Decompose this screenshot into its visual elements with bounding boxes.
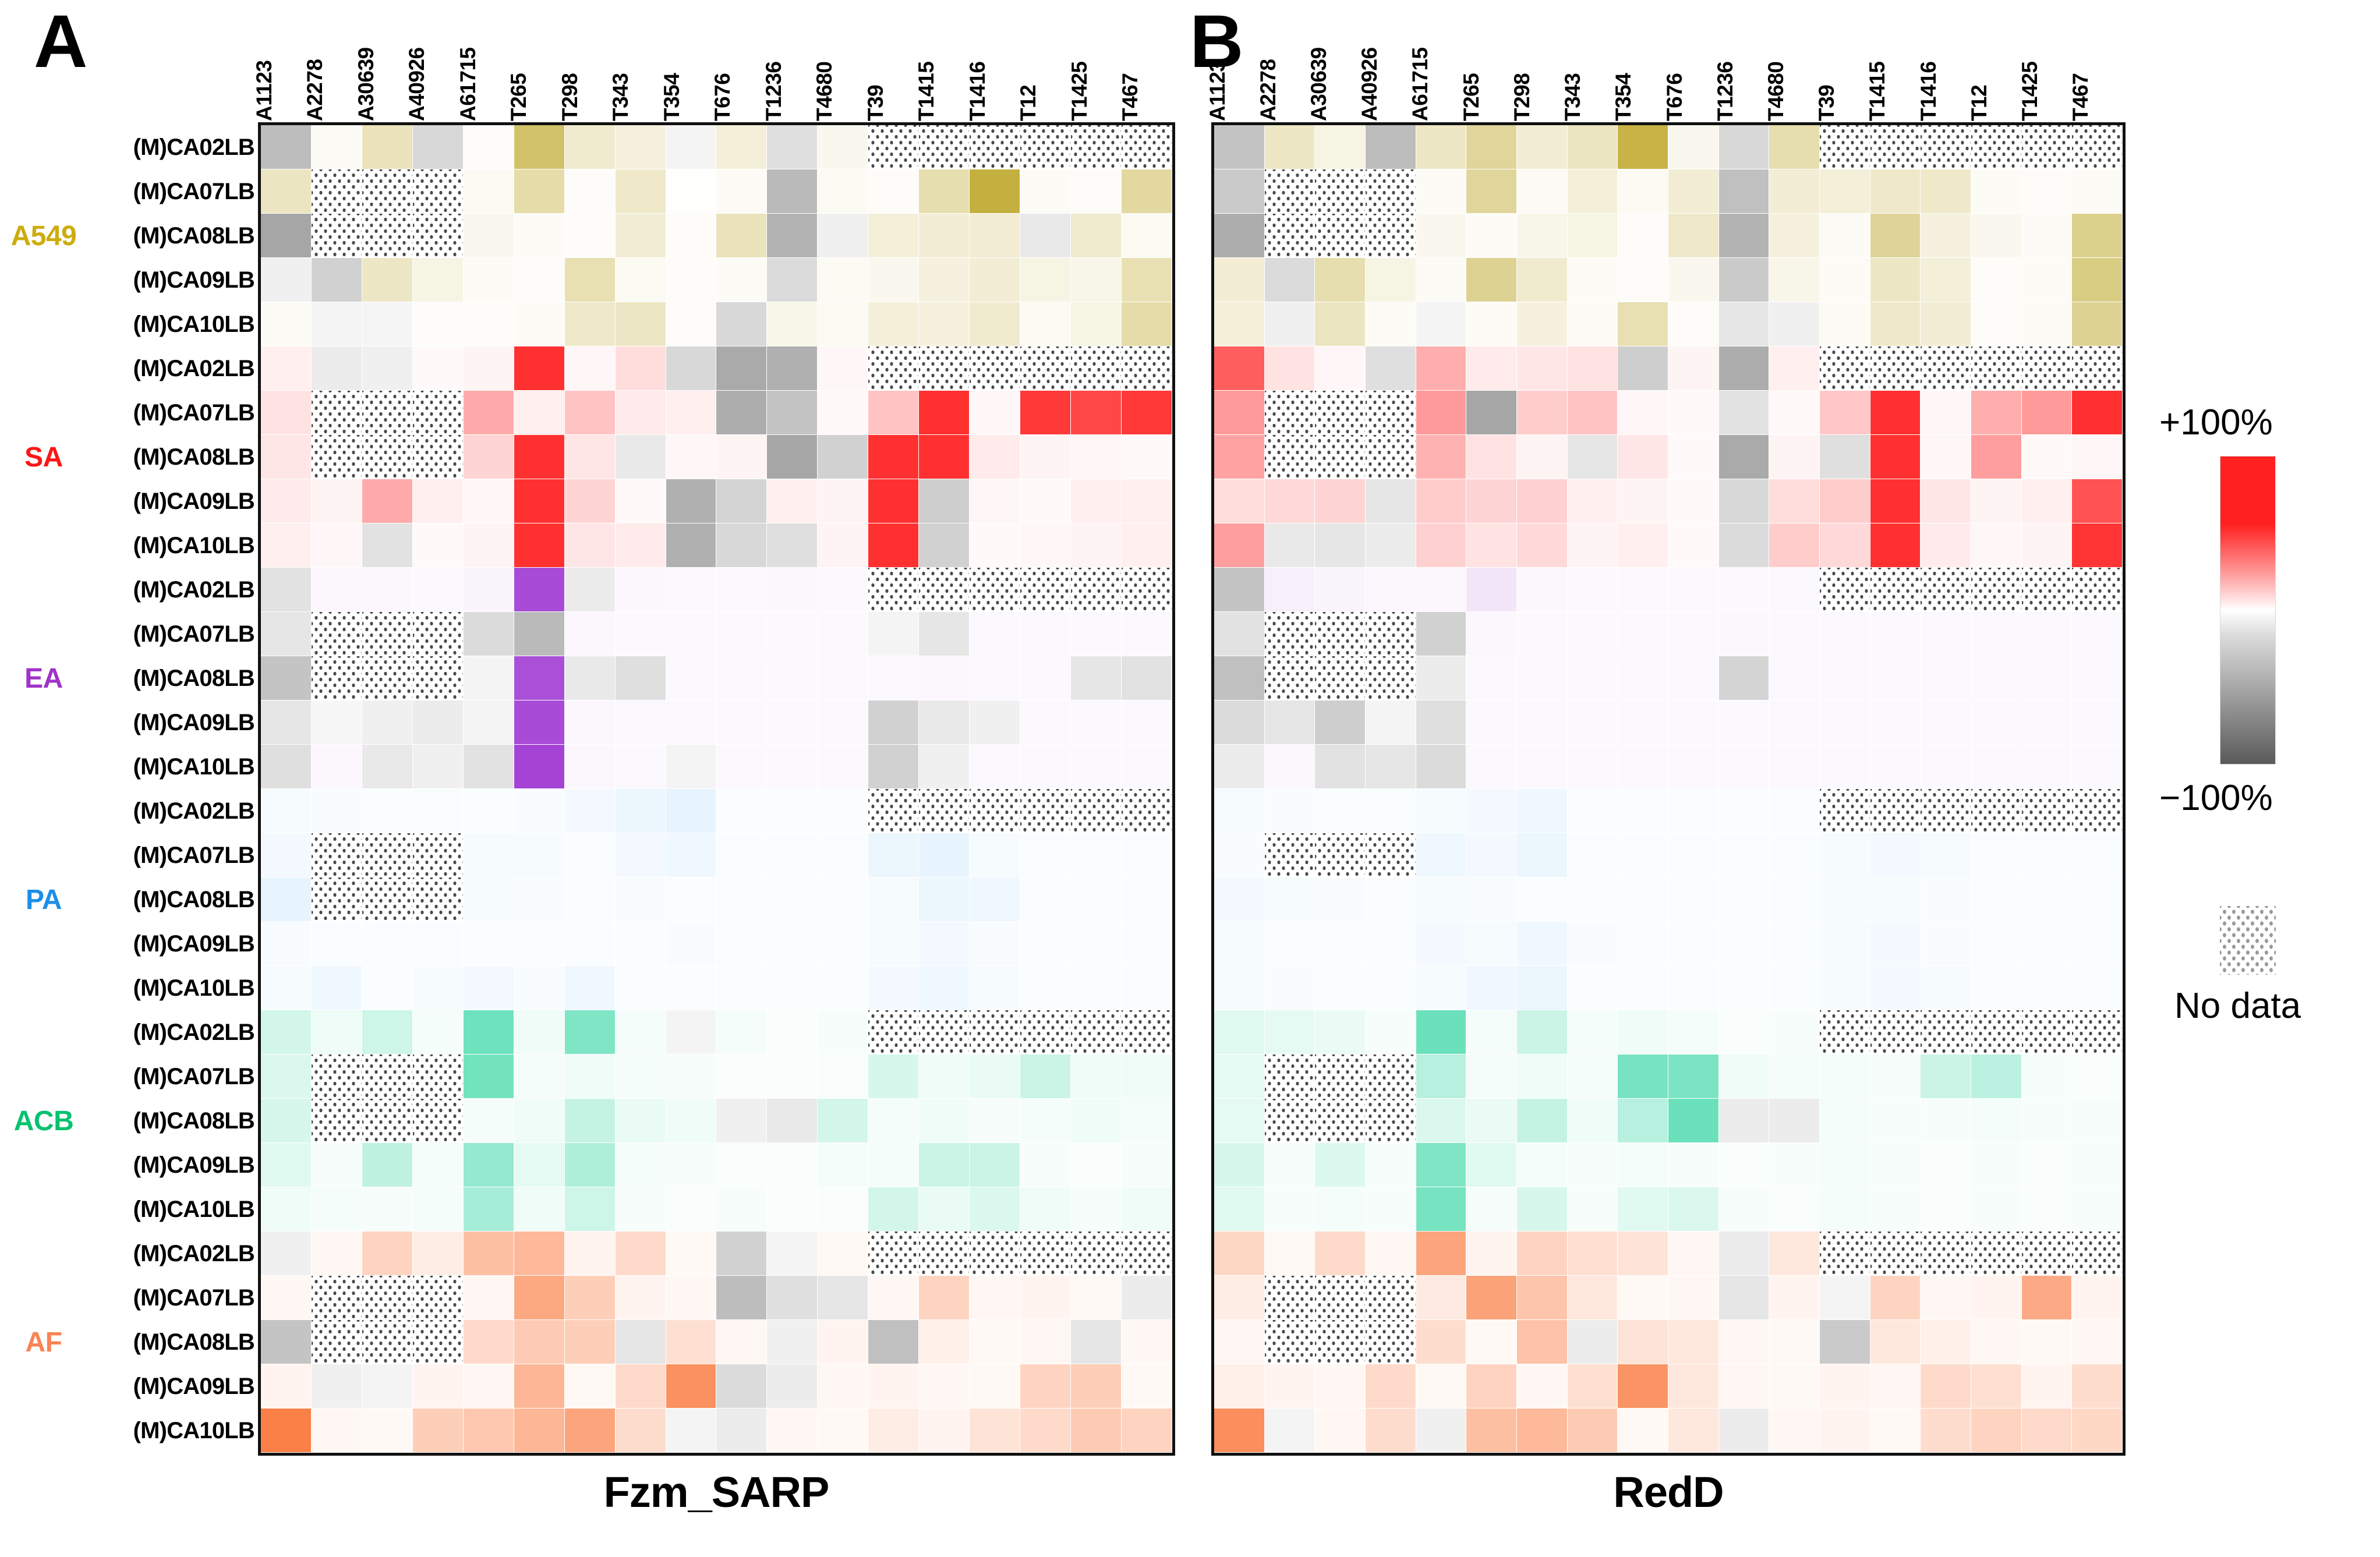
- heatmap-cell: [818, 745, 868, 789]
- heatmap-cell: [1071, 258, 1122, 302]
- heatmap-cell: [1517, 1276, 1568, 1320]
- heatmap-cell: [1568, 966, 1618, 1010]
- column-header-t467: T467: [2075, 0, 2126, 122]
- heatmap-cell: [1668, 1276, 1719, 1320]
- heatmap-cell: [666, 1232, 717, 1276]
- heatmap-cell: [1416, 877, 1467, 922]
- heatmap-cell: [970, 1010, 1020, 1054]
- heatmap-cell: [1971, 1099, 2022, 1143]
- heatmap-cell: [1265, 391, 1315, 435]
- column-header-label: T1425: [2018, 62, 2042, 121]
- heatmap-cell: [1820, 1276, 1870, 1320]
- heatmap-cell: [1618, 789, 1668, 833]
- heatmap-cell: [767, 1099, 818, 1143]
- heatmap-cell: [767, 1320, 818, 1364]
- heatmap-cell: [1568, 656, 1618, 700]
- heatmap-cell: [1820, 1364, 1870, 1409]
- heatmap-cell: [1416, 966, 1467, 1010]
- heatmap-cell: [362, 612, 413, 656]
- heatmap-cell: [2072, 966, 2123, 1010]
- heatmap-cell: [666, 922, 717, 966]
- heatmap-cell: [362, 1320, 413, 1364]
- heatmap-cell: [1466, 1099, 1517, 1143]
- heatmap-cell: [1618, 1099, 1668, 1143]
- heatmap-cell: [767, 125, 818, 169]
- heatmap-cell: [413, 700, 464, 745]
- heatmap-cell: [1214, 346, 1265, 391]
- heatmap-cell: [1517, 169, 1568, 214]
- heatmap-cell: [1971, 391, 2022, 435]
- row-label: (M)CA08LB: [86, 656, 258, 700]
- heatmap-cell: [1517, 125, 1568, 169]
- heatmap-cell: [565, 745, 616, 789]
- heatmap-cell: [616, 789, 666, 833]
- column-header-label: A30639: [1307, 47, 1331, 121]
- heatmap-cell: [312, 1320, 362, 1364]
- column-header-a30639: A30639: [360, 0, 411, 122]
- heatmap-cell: [1122, 833, 1172, 877]
- heatmap-cell: [413, 391, 464, 435]
- column-header-label: T1236: [762, 62, 786, 121]
- heatmap-cell: [565, 568, 616, 612]
- heatmap-cell: [1214, 1232, 1265, 1276]
- heatmap-cell: [1971, 1054, 2022, 1099]
- heatmap-cell: [1466, 302, 1517, 346]
- heatmap-cell: [1071, 966, 1122, 1010]
- heatmap-cell: [1416, 125, 1467, 169]
- heatmap-cell: [767, 568, 818, 612]
- heatmap-cell: [1668, 391, 1719, 435]
- heatmap-cell: [2022, 302, 2073, 346]
- heatmap-cell: [1921, 612, 1971, 656]
- heatmap-cell: [616, 1054, 666, 1099]
- heatmap-cell: [1568, 125, 1618, 169]
- row-label: (M)CA10LB: [86, 966, 258, 1010]
- heatmap-cell: [868, 1232, 919, 1276]
- heatmap-cell: [1568, 1232, 1618, 1276]
- heatmap-cell: [919, 214, 970, 258]
- heatmap-cell: [970, 435, 1020, 479]
- heatmap-cell: [1466, 1010, 1517, 1054]
- heatmap-cell: [1071, 568, 1122, 612]
- heatmap-cell: [514, 302, 565, 346]
- heatmap-cell: [1214, 568, 1265, 612]
- heatmap-cell: [464, 391, 514, 435]
- heatmap-cell: [565, 612, 616, 656]
- heatmap-cell: [1668, 1054, 1719, 1099]
- heatmap-cell: [312, 789, 362, 833]
- heatmap-cell: [312, 745, 362, 789]
- heatmap-cell: [1921, 833, 1971, 877]
- heatmap-cell: [1921, 169, 1971, 214]
- row-label: (M)CA10LB: [86, 1409, 258, 1453]
- heatmap-cell: [1668, 1187, 1719, 1232]
- heatmap-cell: [1517, 1409, 1568, 1453]
- row-label: (M)CA10LB: [86, 302, 258, 346]
- column-header-label: T467: [2068, 73, 2093, 121]
- heatmap-cell: [1870, 214, 1921, 258]
- heatmap-cell: [818, 833, 868, 877]
- heatmap-cell: [1416, 1010, 1467, 1054]
- heatmap-cell: [1668, 1409, 1719, 1453]
- heatmap-cell: [919, 1320, 970, 1364]
- heatmap-cell: [1921, 1320, 1971, 1364]
- heatmap-cell: [616, 877, 666, 922]
- heatmap-cell: [1820, 1143, 1870, 1187]
- heatmap-cell: [1071, 700, 1122, 745]
- heatmap-cell: [1020, 435, 1071, 479]
- column-header-t1425: T1425: [2024, 0, 2075, 122]
- heatmap-cell: [1071, 435, 1122, 479]
- heatmap-cell: [868, 435, 919, 479]
- heatmap-cell: [1719, 258, 1770, 302]
- heatmap-cell: [1870, 700, 1921, 745]
- heatmap-cell: [1921, 125, 1971, 169]
- heatmap-cell: [818, 922, 868, 966]
- heatmap-cell: [1020, 1143, 1071, 1187]
- heatmap-cell: [1719, 169, 1770, 214]
- heatmap-cell: [919, 258, 970, 302]
- heatmap-cell: [413, 1054, 464, 1099]
- heatmap-cell: [464, 612, 514, 656]
- heatmap-cell: [1820, 1232, 1870, 1276]
- heatmap-cell: [514, 1320, 565, 1364]
- heatmap-cell: [666, 568, 717, 612]
- heatmap-cell: [362, 966, 413, 1010]
- heatmap-cell: [1769, 346, 1820, 391]
- heatmap-cell: [1020, 700, 1071, 745]
- heatmap-cell: [1122, 435, 1172, 479]
- heatmap-cell: [1466, 700, 1517, 745]
- heatmap-cell: [2072, 922, 2123, 966]
- heatmap-cell: [261, 169, 312, 214]
- heatmap-cell: [666, 169, 717, 214]
- heatmap-cell: [514, 1187, 565, 1232]
- heatmap-cell: [1618, 1232, 1668, 1276]
- heatmap-cell: [767, 346, 818, 391]
- heatmap-cell: [1618, 700, 1668, 745]
- heatmap-cell: [2022, 656, 2073, 700]
- heatmap-cell: [868, 1054, 919, 1099]
- heatmap-cell: [1122, 1232, 1172, 1276]
- heatmap-cell: [514, 523, 565, 568]
- heatmap-cell: [1769, 1409, 1820, 1453]
- panel-letter-a: A: [34, 5, 86, 79]
- heatmap-cell: [1122, 169, 1172, 214]
- heatmap-cell: [1769, 1320, 1820, 1364]
- heatmap-cell: [1122, 877, 1172, 922]
- heatmap-cell: [1769, 125, 1820, 169]
- heatmap-cell: [2022, 1010, 2073, 1054]
- heatmap-cell: [261, 833, 312, 877]
- column-header-label: T1415: [1865, 62, 1890, 121]
- heatmap-cell: [1870, 745, 1921, 789]
- row-label: (M)CA02LB: [86, 125, 258, 169]
- heatmap-cell: [1366, 568, 1416, 612]
- heatmap-cell: [1719, 1099, 1770, 1143]
- heatmap-cell: [1265, 922, 1315, 966]
- heatmap-cell: [261, 656, 312, 700]
- heatmap-cell: [1071, 745, 1122, 789]
- heatmap-cell: [1315, 1276, 1366, 1320]
- heatmap-cell: [1719, 1187, 1770, 1232]
- heatmap-cell: [616, 1276, 666, 1320]
- heatmap-cell: [1719, 1409, 1770, 1453]
- heatmap-cell: [767, 302, 818, 346]
- heatmap-cell: [1315, 877, 1366, 922]
- heatmap-cell: [716, 258, 767, 302]
- column-header-a1123: A1123: [258, 0, 309, 122]
- heatmap-cell: [868, 169, 919, 214]
- heatmap-cell: [919, 745, 970, 789]
- panel-b-caption: RedD: [1211, 1467, 2126, 1517]
- heatmap-cell: [1466, 125, 1517, 169]
- heatmap-cell: [1769, 214, 1820, 258]
- heatmap-cell: [1921, 1099, 1971, 1143]
- heatmap-cell: [1122, 346, 1172, 391]
- heatmap-cell: [1820, 346, 1870, 391]
- heatmap-cell: [1719, 391, 1770, 435]
- heatmap-cell: [1466, 1409, 1517, 1453]
- heatmap-cell: [666, 1409, 717, 1453]
- column-header-t39: T39: [1821, 0, 1872, 122]
- heatmap-cell: [1122, 125, 1172, 169]
- heatmap-cell: [1568, 302, 1618, 346]
- heatmap-cell: [464, 169, 514, 214]
- heatmap-cell: [666, 1143, 717, 1187]
- heatmap-cell: [1971, 700, 2022, 745]
- heatmap-cell: [1315, 1232, 1366, 1276]
- heatmap-cell: [919, 523, 970, 568]
- heatmap-cell: [1971, 1010, 2022, 1054]
- heatmap-cell: [1416, 1054, 1467, 1099]
- column-header-label: T298: [558, 73, 582, 121]
- heatmap-cell: [1315, 125, 1366, 169]
- heatmap-cell: [1618, 169, 1668, 214]
- heatmap-cell: [1517, 745, 1568, 789]
- heatmap-cell: [1265, 789, 1315, 833]
- heatmap-cell: [1122, 789, 1172, 833]
- heatmap-cell: [919, 922, 970, 966]
- heatmap-cell: [818, 391, 868, 435]
- heatmap-cell: [1265, 214, 1315, 258]
- heatmap-cell: [666, 789, 717, 833]
- heatmap-cell: [1020, 1054, 1071, 1099]
- heatmap-cell: [514, 1232, 565, 1276]
- heatmap-cell: [1568, 1143, 1618, 1187]
- heatmap-cell: [1020, 169, 1071, 214]
- heatmap-cell: [2022, 922, 2073, 966]
- heatmap-cell: [1618, 1143, 1668, 1187]
- heatmap-cell: [261, 745, 312, 789]
- heatmap-cell: [1020, 612, 1071, 656]
- figure-root: A B A549SAEAPAACBAF (M)CA02LB(M)CA07LB(M…: [0, 0, 2380, 1557]
- heatmap-cell: [1719, 523, 1770, 568]
- row-label: (M)CA10LB: [86, 523, 258, 568]
- heatmap-panel-a: [258, 122, 1175, 1456]
- heatmap-cell: [716, 612, 767, 656]
- heatmap-cell: [1416, 1320, 1467, 1364]
- heatmap-cell: [1315, 1187, 1366, 1232]
- heatmap-cell: [1416, 656, 1467, 700]
- heatmap-cell: [666, 214, 717, 258]
- column-header-label: A1123: [1205, 61, 1230, 122]
- heatmap-cell: [1466, 789, 1517, 833]
- heatmap-cell: [1315, 1320, 1366, 1364]
- heatmap-cell: [362, 1187, 413, 1232]
- heatmap-cell: [1265, 258, 1315, 302]
- heatmap-cell: [1971, 302, 2022, 346]
- heatmap-cell: [1517, 479, 1568, 523]
- heatmap-cell: [1769, 966, 1820, 1010]
- heatmap-cell: [1517, 435, 1568, 479]
- heatmap-cell: [818, 302, 868, 346]
- heatmap-cell: [868, 391, 919, 435]
- heatmap-cell: [1668, 568, 1719, 612]
- heatmap-cell: [970, 612, 1020, 656]
- heatmap-cell: [1416, 1187, 1467, 1232]
- heatmap-cell: [2022, 523, 2073, 568]
- column-header-label: T39: [1815, 85, 1839, 121]
- heatmap-cell: [919, 1276, 970, 1320]
- heatmap-cell: [1870, 1054, 1921, 1099]
- heatmap-cell: [464, 789, 514, 833]
- heatmap-cell: [716, 700, 767, 745]
- heatmap-cell: [1820, 169, 1870, 214]
- heatmap-cell: [716, 1364, 767, 1409]
- heatmap-cell: [1568, 1409, 1618, 1453]
- heatmap-cell: [362, 1010, 413, 1054]
- heatmap-cell: [1517, 1143, 1568, 1187]
- heatmap-cell: [1769, 435, 1820, 479]
- column-header-t265: T265: [513, 0, 564, 122]
- column-header-label: A2278: [303, 59, 327, 121]
- heatmap-cell: [868, 1320, 919, 1364]
- heatmap-cell: [413, 745, 464, 789]
- legend-max-label: +100%: [2155, 402, 2376, 443]
- heatmap-cell: [514, 435, 565, 479]
- heatmap-cell: [1466, 1232, 1517, 1276]
- heatmap-cell: [1921, 1276, 1971, 1320]
- heatmap-cell: [1971, 568, 2022, 612]
- heatmap-cell: [616, 435, 666, 479]
- heatmap-cell: [1820, 966, 1870, 1010]
- heatmap-cell: [970, 568, 1020, 612]
- heatmap-cell: [1265, 745, 1315, 789]
- heatmap-cell: [1020, 789, 1071, 833]
- heatmap-cell: [1820, 568, 1870, 612]
- heatmap-cell: [919, 1010, 970, 1054]
- heatmap-cell: [1618, 523, 1668, 568]
- heatmap-cell: [1870, 302, 1921, 346]
- heatmap-cell: [261, 214, 312, 258]
- heatmap-cell: [464, 214, 514, 258]
- heatmap-cell: [868, 656, 919, 700]
- heatmap-cell: [1820, 258, 1870, 302]
- heatmap-cell: [1820, 612, 1870, 656]
- heatmap-cell: [1769, 523, 1820, 568]
- heatmap-cell: [2072, 125, 2123, 169]
- heatmap-cell: [1466, 922, 1517, 966]
- heatmap-cell: [1517, 700, 1568, 745]
- heatmap-cell: [1568, 745, 1618, 789]
- heatmap-cell: [1971, 214, 2022, 258]
- heatmap-cell: [716, 1276, 767, 1320]
- row-label: (M)CA07LB: [86, 169, 258, 214]
- column-header-label: A40926: [405, 47, 429, 121]
- heatmap-cell: [362, 700, 413, 745]
- heatmap-cell: [1214, 700, 1265, 745]
- heatmap-cell: [868, 346, 919, 391]
- heatmap-cell: [970, 1187, 1020, 1232]
- heatmap-cell: [1265, 169, 1315, 214]
- heatmap-cell: [868, 1409, 919, 1453]
- column-header-t467: T467: [1124, 0, 1176, 122]
- heatmap-cell: [970, 1232, 1020, 1276]
- heatmap-cell: [666, 1187, 717, 1232]
- heatmap-cell: [1870, 789, 1921, 833]
- heatmap-cell: [1971, 877, 2022, 922]
- heatmap-cell: [565, 302, 616, 346]
- column-header-t4680: T4680: [1770, 0, 1820, 122]
- heatmap-cell: [1416, 258, 1467, 302]
- heatmap-cell: [565, 346, 616, 391]
- column-header-label: T265: [507, 73, 531, 121]
- heatmap-cell: [1870, 346, 1921, 391]
- heatmap-cell: [1870, 922, 1921, 966]
- heatmap-cell: [2022, 877, 2073, 922]
- heatmap-cell: [616, 302, 666, 346]
- heatmap-cell: [1366, 346, 1416, 391]
- heatmap-cell: [514, 1054, 565, 1099]
- row-label: (M)CA07LB: [86, 391, 258, 435]
- heatmap-cell: [1668, 169, 1719, 214]
- heatmap-cell: [514, 656, 565, 700]
- heatmap-cell: [1071, 1232, 1122, 1276]
- column-header-label: T467: [1118, 73, 1143, 121]
- heatmap-cell: [1719, 745, 1770, 789]
- heatmap-cell: [1921, 700, 1971, 745]
- heatmap-cell: [1769, 1364, 1820, 1409]
- heatmap-cell: [1921, 922, 1971, 966]
- row-label: (M)CA09LB: [86, 258, 258, 302]
- heatmap-cell: [1719, 1364, 1770, 1409]
- heatmap-cell: [1366, 1409, 1416, 1453]
- heatmap-cell: [1921, 656, 1971, 700]
- heatmap-cell: [1971, 966, 2022, 1010]
- heatmap-cell: [1366, 1320, 1416, 1364]
- heatmap-cell: [1769, 1010, 1820, 1054]
- heatmap-cell: [616, 1099, 666, 1143]
- heatmap-cell: [514, 700, 565, 745]
- heatmap-cell: [514, 479, 565, 523]
- heatmap-cell: [666, 1364, 717, 1409]
- heatmap-cell: [1020, 1364, 1071, 1409]
- heatmap-cell: [1466, 833, 1517, 877]
- heatmap-cell: [312, 1099, 362, 1143]
- heatmap-cell: [818, 435, 868, 479]
- heatmap-cell: [616, 922, 666, 966]
- heatmap-cell: [1466, 1320, 1517, 1364]
- row-label: (M)CA08LB: [86, 214, 258, 258]
- heatmap-cell: [919, 612, 970, 656]
- heatmap-cell: [1366, 745, 1416, 789]
- heatmap-cell: [362, 877, 413, 922]
- heatmap-cell: [868, 125, 919, 169]
- heatmap-cell: [565, 1054, 616, 1099]
- heatmap-cell: [362, 1409, 413, 1453]
- heatmap-cell: [1366, 169, 1416, 214]
